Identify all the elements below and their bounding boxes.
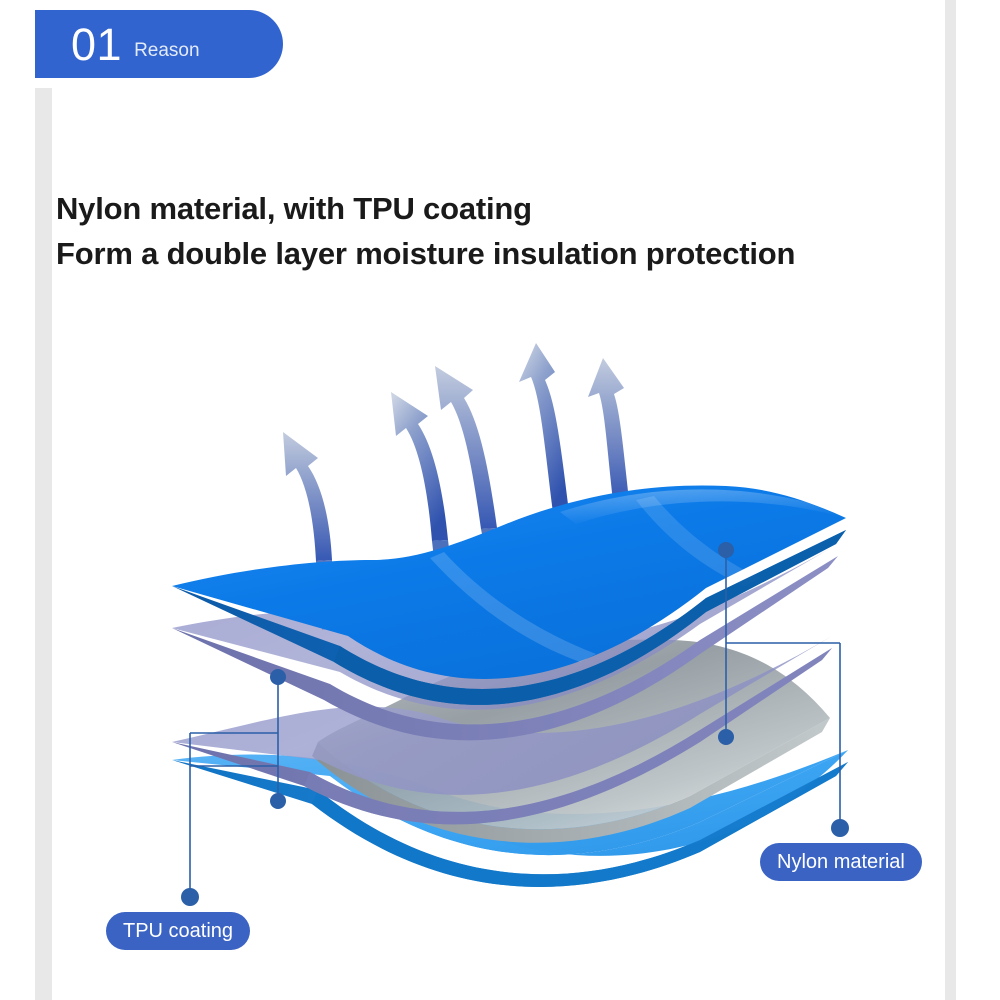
nylon-outer-layer-face — [172, 485, 846, 679]
membrane-layer-face — [318, 640, 830, 830]
tpu-coating-callout-leader — [190, 677, 278, 897]
tpu-coating-layer-edge — [172, 648, 832, 824]
badge-number: 01 — [71, 22, 122, 67]
nylon-callout-dot-upper — [718, 542, 734, 558]
vapor-arrow-tail-1 — [316, 560, 338, 630]
vapor-arrow-3 — [435, 366, 497, 529]
tpu-coating-upper-edge — [172, 556, 838, 740]
tpu-coating-layer-face — [172, 636, 832, 795]
tpu-callout-dot-lower — [270, 793, 286, 809]
vapor-arrow-tail-5 — [613, 500, 634, 523]
nylon-outer-layer-sheen-3 — [636, 496, 760, 586]
vapor-arrow-5 — [588, 358, 629, 501]
tpu-callout-dot-upper — [270, 669, 286, 685]
page-title: Nylon material, with TPU coating Form a … — [56, 186, 956, 277]
nylon-inner-layer-face — [172, 750, 848, 855]
membrane-layer — [312, 640, 830, 843]
nylon-outer-layer-sheen-2 — [430, 552, 596, 662]
tpu-callout-dot-pill — [181, 888, 199, 906]
left-gutter-strip — [35, 88, 52, 1000]
vapor-arrow-4 — [519, 343, 569, 513]
vapor-arrow-tail-3 — [481, 528, 508, 570]
tpu-coating-upper-face — [172, 544, 838, 710]
membrane-layer-edge — [312, 718, 830, 843]
vapor-arrow-2 — [391, 392, 448, 541]
nylon-outer-layer-edge — [172, 530, 846, 705]
badge-word: Reason — [134, 40, 200, 62]
reason-number-badge: 01 Reason — [35, 10, 283, 78]
nylon-inner-layer-edge — [172, 760, 848, 887]
nylon-inner-layer-body — [330, 750, 848, 856]
vapor-arrow-1 — [283, 432, 332, 561]
nylon-outer-layer-sheen — [560, 489, 846, 524]
tpu-coating-layer-rim — [304, 648, 832, 824]
nylon-outer-layer — [172, 485, 846, 704]
vapor-arrow-tail-2 — [432, 540, 457, 594]
nylon-inner-layer — [172, 750, 848, 887]
headline-line-2: Form a double layer moisture insulation … — [56, 231, 956, 276]
nylon-callout-dot-lower — [718, 729, 734, 745]
page-root: 01 Reason Nylon material, with TPU coati… — [0, 0, 1000, 1000]
right-gutter-strip — [945, 0, 956, 1000]
tpu-coating-layer — [172, 636, 832, 824]
vapor-arrow-group — [283, 343, 634, 630]
nylon-callout-dot-pill — [831, 819, 849, 837]
nylon-material-label: Nylon material — [760, 843, 922, 881]
tpu-coating-label: TPU coating — [106, 912, 250, 950]
nylon-material-callout-leader — [726, 550, 840, 828]
nylon-outer-layer-rim — [334, 530, 846, 705]
headline-line-1: Nylon material, with TPU coating — [56, 186, 956, 231]
tpu-coating-upper-sheet — [172, 544, 838, 740]
vapor-arrow-tail-4 — [553, 512, 577, 542]
